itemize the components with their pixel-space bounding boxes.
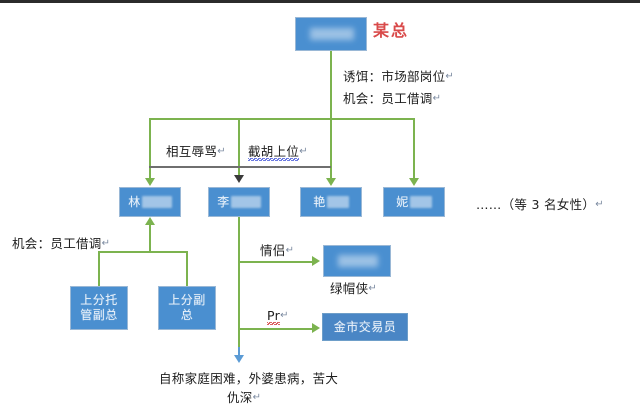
node-lover-label [337, 255, 378, 267]
node-li-label: 李 [217, 195, 261, 210]
connector-pr [238, 328, 314, 330]
node-vp-deputy-label: 上分副 总 [168, 293, 206, 323]
label-chance-left-text: 机会：员工借调 [12, 236, 102, 251]
label-green-hat-text: 绿帽侠 [330, 281, 368, 296]
arrowhead-li-gray [234, 175, 244, 183]
node-ni[interactable]: 妮 [383, 187, 445, 217]
arrowhead-lin [145, 178, 155, 186]
connector-drop-yan [330, 118, 332, 180]
connector-drop-ni [413, 118, 415, 180]
label-others-count-text: ……（等 3 名女性） [476, 197, 595, 212]
label-cut-in-line: 截胡上位↵ [248, 142, 308, 161]
label-others-count: ……（等 3 名女性）↵ [476, 195, 604, 214]
node-yan-label: 艳 [313, 195, 349, 210]
connector-gray-horizontal [149, 166, 331, 168]
diagram-canvas: 某总 诱饵：市场部岗位↵ 机会：员工借调↵ 相互辱骂↵ 截胡上位↵ 林 李 艳 … [0, 0, 640, 414]
node-ni-label: 妮 [396, 195, 432, 210]
label-pr: Pr↵ [267, 306, 289, 325]
label-chance-top: 机会：员工借调↵ [343, 89, 441, 108]
label-chance-left: 机会：员工借调↵ [12, 234, 110, 253]
bottom-note-line2: 仇深↵ [227, 388, 261, 407]
connector-li-spine [238, 217, 240, 354]
label-couple-text: 情侣 [260, 243, 286, 258]
bottom-note-line1: 自称家庭困难，外婆患病，苦大 [159, 369, 338, 388]
label-chance-top-text: 机会：员工借调 [343, 91, 433, 106]
label-bait: 诱饵：市场部岗位↵ [343, 67, 454, 86]
bottom-note-line2-text: 仇深 [227, 390, 253, 405]
connector-vp-deputy-drop [186, 251, 188, 287]
label-pr-text: Pr [267, 308, 280, 325]
label-green-hat: 绿帽侠↵ [330, 279, 377, 298]
arrowhead-couple [312, 256, 320, 266]
arrowhead-bottom-note [234, 355, 244, 363]
node-yan[interactable]: 艳 [300, 187, 362, 217]
node-lin[interactable]: 林 [119, 187, 181, 217]
label-cut-in-line-text: 截胡上位 [248, 144, 299, 163]
connector-boss-stem [330, 51, 332, 119]
label-mutual-abuse: 相互辱骂↵ [166, 142, 226, 161]
boss-annotation: 某总 [373, 21, 409, 40]
connector-bus-horizontal [149, 118, 414, 120]
node-lin-label: 林 [128, 195, 172, 210]
node-vp-trust-label: 上分托 管副总 [80, 293, 118, 323]
label-mutual-abuse-text: 相互辱骂 [166, 144, 217, 159]
node-boss[interactable] [295, 17, 367, 51]
connector-drop-li [238, 118, 240, 180]
connector-drop-lin [149, 118, 151, 180]
node-li[interactable]: 李 [208, 187, 270, 217]
node-trader[interactable]: 金市交易员 [322, 313, 408, 341]
connector-vp-trust-drop [98, 251, 100, 287]
node-lover[interactable] [323, 245, 391, 277]
connector-lin-down [149, 224, 151, 252]
node-boss-label [309, 28, 354, 40]
arrowhead-ni [409, 178, 419, 186]
arrowhead-pr [312, 323, 320, 333]
node-vp-trust[interactable]: 上分托 管副总 [70, 286, 128, 330]
connector-vp-splitter [98, 251, 187, 253]
connector-couple [238, 261, 314, 263]
node-vp-deputy[interactable]: 上分副 总 [158, 286, 216, 330]
label-bait-text: 诱饵：市场部岗位 [343, 69, 445, 84]
bottom-note-line1-text: 自称家庭困难，外婆患病，苦大 [159, 371, 338, 386]
arrowhead-yan [326, 178, 336, 186]
label-couple: 情侣↵ [260, 241, 294, 260]
node-trader-label: 金市交易员 [334, 320, 397, 335]
